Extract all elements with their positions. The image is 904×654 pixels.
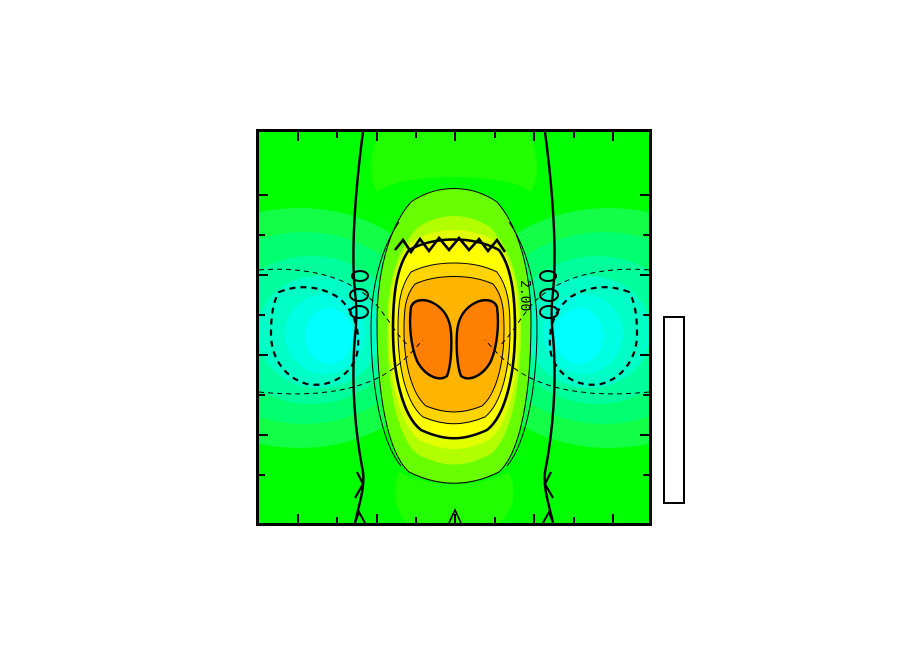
figure-title — [0, 54, 904, 85]
figure-canvas: 2.00 — [0, 0, 904, 654]
y-axis-tick-labels — [170, 129, 250, 529]
contour-field: 2.00 — [259, 132, 649, 523]
x-axis-tick-labels — [0, 533, 904, 563]
x-axis-title — [0, 578, 904, 603]
colorbar[interactable] — [663, 316, 685, 504]
contour-plot-area[interactable]: 2.00 — [256, 129, 652, 526]
contour-label-2: 2.00 — [517, 280, 532, 311]
